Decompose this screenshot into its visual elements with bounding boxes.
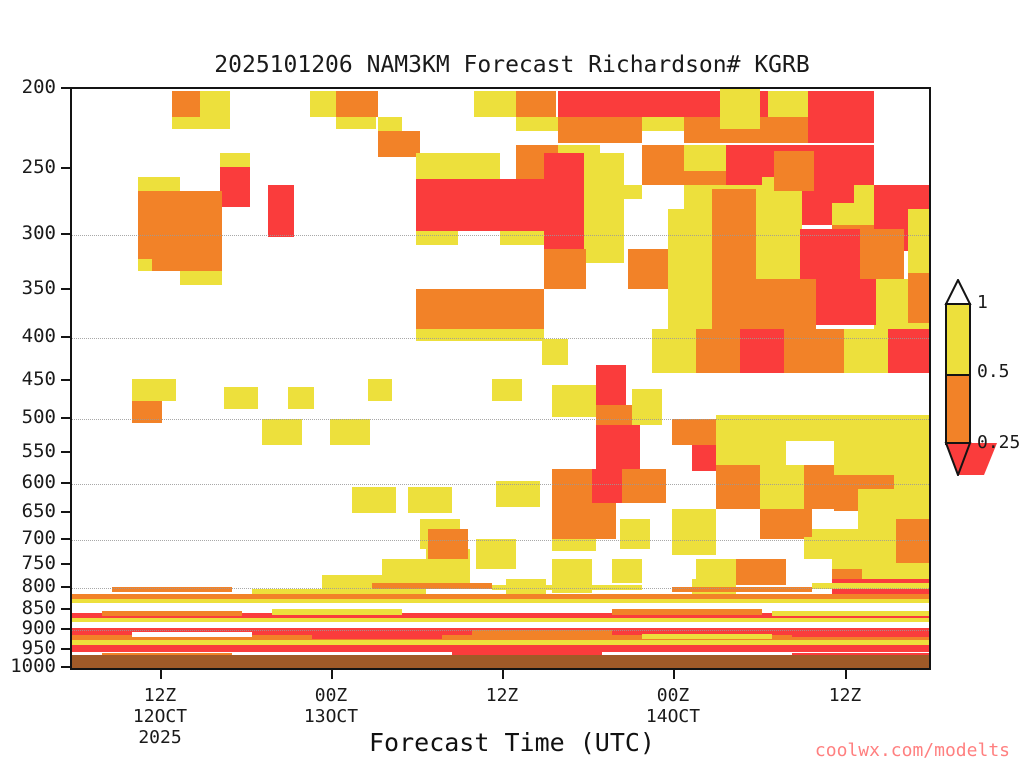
y-tick-label: 350 <box>22 277 56 299</box>
y-tick-label: 250 <box>22 156 56 178</box>
colorbar-segment-orange <box>947 374 969 443</box>
y-tick-label: 500 <box>22 406 56 428</box>
heatmap-cell <box>768 117 808 143</box>
heatmap-cell <box>792 632 931 637</box>
heatmap-cell <box>622 469 666 503</box>
heatmap-cell <box>592 469 622 503</box>
heatmap-cell <box>888 329 931 373</box>
heatmap-cell <box>476 539 516 569</box>
heatmap-cell <box>310 91 336 117</box>
colorbar-tick-label: 0.5 <box>977 361 1010 382</box>
heatmap-cell <box>642 634 772 639</box>
heatmap-cell <box>908 209 931 273</box>
heatmap-cell <box>542 339 568 365</box>
heatmap-cell <box>684 145 726 171</box>
colorbar-tick-label: 1 <box>977 292 988 313</box>
heatmap-cell <box>696 329 740 373</box>
x-tick-mark <box>845 670 847 679</box>
y-tick-label: 550 <box>22 440 56 462</box>
heatmap-cell <box>272 609 402 615</box>
heatmap-cell <box>180 271 222 285</box>
heatmap-cell <box>472 630 612 636</box>
heatmap-cell <box>132 401 162 423</box>
colorbar <box>945 303 971 445</box>
heatmap-cell <box>268 185 294 237</box>
y-tick-label: 1000 <box>10 655 56 677</box>
y-axis: 2002503003504004505005506006507007508008… <box>0 87 70 670</box>
heatmap-cell <box>474 91 516 117</box>
heatmap-cell <box>336 117 376 129</box>
heatmap-cell <box>720 89 760 129</box>
heatmap-cell <box>558 117 642 143</box>
heatmap-cell <box>416 329 544 341</box>
y-tick-label: 800 <box>22 575 56 597</box>
heatmap-cell <box>844 329 888 373</box>
x-tick-mark <box>673 670 675 679</box>
heatmap-cell <box>596 425 640 469</box>
y-tick-label: 450 <box>22 368 56 390</box>
heatmap-cell <box>772 509 812 537</box>
heatmap-cell <box>416 153 500 179</box>
heatmap-cell <box>768 91 808 117</box>
x-tick-label: 12Z <box>829 685 862 706</box>
y-tick-label: 200 <box>22 76 56 98</box>
heatmap-cell <box>102 611 242 616</box>
heatmap-cell <box>774 151 814 191</box>
plot-area <box>70 87 931 670</box>
heatmap-cell <box>172 91 200 117</box>
heatmap-cell <box>814 151 854 203</box>
heatmap-cell <box>552 385 596 417</box>
heatmap-cell <box>262 419 302 445</box>
heatmap-cell <box>138 177 180 191</box>
heatmap-cell <box>628 249 670 289</box>
heatmap-cell <box>200 91 230 117</box>
y-tick-label: 850 <box>22 597 56 619</box>
heatmap-cell <box>584 153 624 263</box>
heatmap-cell <box>352 487 396 513</box>
heatmap-cell <box>496 481 540 507</box>
heatmap-cell <box>252 589 342 594</box>
heatmap-cell <box>516 117 558 131</box>
heatmap-cell <box>620 519 650 549</box>
heatmap-cell <box>812 583 931 589</box>
heatmap-cell <box>756 229 800 281</box>
heatmap-cell <box>784 329 844 373</box>
heatmap-cell <box>516 91 556 117</box>
heatmap-cell <box>330 419 370 445</box>
heatmap-cell <box>756 189 800 229</box>
heatmap-cell <box>544 153 584 249</box>
heatmap-cell <box>712 189 756 251</box>
heatmap-cell <box>312 634 442 639</box>
heatmap-cell <box>908 273 931 323</box>
heatmap-cell <box>378 131 420 157</box>
heatmap-cell <box>896 519 931 563</box>
heatmap-cell <box>492 585 642 590</box>
heatmap-cell <box>544 249 586 289</box>
heatmap-cell <box>416 289 544 329</box>
heatmap-cell <box>716 415 786 465</box>
heatmap-cell <box>416 231 458 245</box>
heatmap-cell <box>552 539 596 551</box>
heatmap-cell <box>740 329 784 373</box>
colorbar-segment-yellow <box>947 305 969 374</box>
heatmap-cell <box>652 329 696 373</box>
heatmap-cell <box>760 465 804 509</box>
heatmap-cell <box>336 91 378 117</box>
heatmap-cell <box>612 559 642 583</box>
x-tick-mark <box>502 670 504 679</box>
watermark: coolwx.com/modelts <box>0 740 1010 761</box>
heatmap-cell <box>672 509 716 555</box>
x-tick-label: 00Z 13OCT <box>304 685 358 727</box>
y-tick-label: 300 <box>22 222 56 244</box>
heatmap-cell <box>596 365 626 405</box>
y-tick-label: 600 <box>22 471 56 493</box>
x-tick-mark <box>331 670 333 679</box>
heatmap-cell <box>612 609 762 615</box>
colorbar-arrow-up-outline <box>944 279 972 305</box>
heatmap-cell <box>132 379 176 401</box>
terrain-fill <box>72 655 929 670</box>
heatmap-cell <box>642 117 684 131</box>
heatmap-cell <box>808 91 874 117</box>
colorbar-arrow-down-outline <box>944 442 972 476</box>
heatmap-cell <box>428 529 468 559</box>
heatmap-cell <box>112 587 232 592</box>
heatmap-cell <box>402 559 428 579</box>
heatmap-cell <box>220 167 250 207</box>
heatmap-cell <box>378 117 402 131</box>
heatmap-cell <box>672 419 716 445</box>
y-tick-label: 650 <box>22 500 56 522</box>
heatmap-cell <box>416 179 544 231</box>
heatmap-cell <box>816 279 876 325</box>
heatmap-cell <box>432 613 592 618</box>
heatmap-cell <box>492 379 522 401</box>
heatmap-cells <box>72 89 929 668</box>
heatmap-cell <box>632 389 662 425</box>
x-tick-label: 12Z <box>486 685 519 706</box>
chart-canvas: 2025101206 NAM3KM Forecast Richardson# K… <box>0 0 1024 768</box>
heatmap-cell <box>552 469 592 503</box>
heatmap-cell <box>288 387 314 409</box>
heatmap-cell <box>224 387 258 409</box>
heatmap-cell <box>898 415 931 475</box>
heatmap-cell <box>672 587 812 592</box>
heatmap-cell <box>668 209 712 281</box>
heatmap-cell <box>172 117 230 129</box>
heatmap-cell <box>552 503 616 539</box>
heatmap-cell <box>220 153 250 167</box>
y-tick-label: 700 <box>22 527 56 549</box>
heatmap-cell <box>368 379 392 401</box>
heatmap-cell <box>138 259 152 271</box>
x-tick-label: 00Z 14OCT <box>646 685 700 727</box>
x-tick-mark <box>160 670 162 679</box>
heatmap-cell <box>716 465 760 509</box>
y-tick-label: 400 <box>22 325 56 347</box>
colorbar-tick-label: 0.25 <box>977 432 1020 453</box>
heatmap-cell <box>132 632 252 637</box>
heatmap-cell <box>772 611 931 616</box>
y-tick-label: 750 <box>22 552 56 574</box>
heatmap-cell <box>408 487 452 513</box>
heatmap-cell <box>372 583 492 589</box>
page-title: 2025101206 NAM3KM Forecast Richardson# K… <box>0 52 1024 78</box>
heatmap-cell <box>808 117 874 143</box>
heatmap-cell <box>736 559 786 585</box>
